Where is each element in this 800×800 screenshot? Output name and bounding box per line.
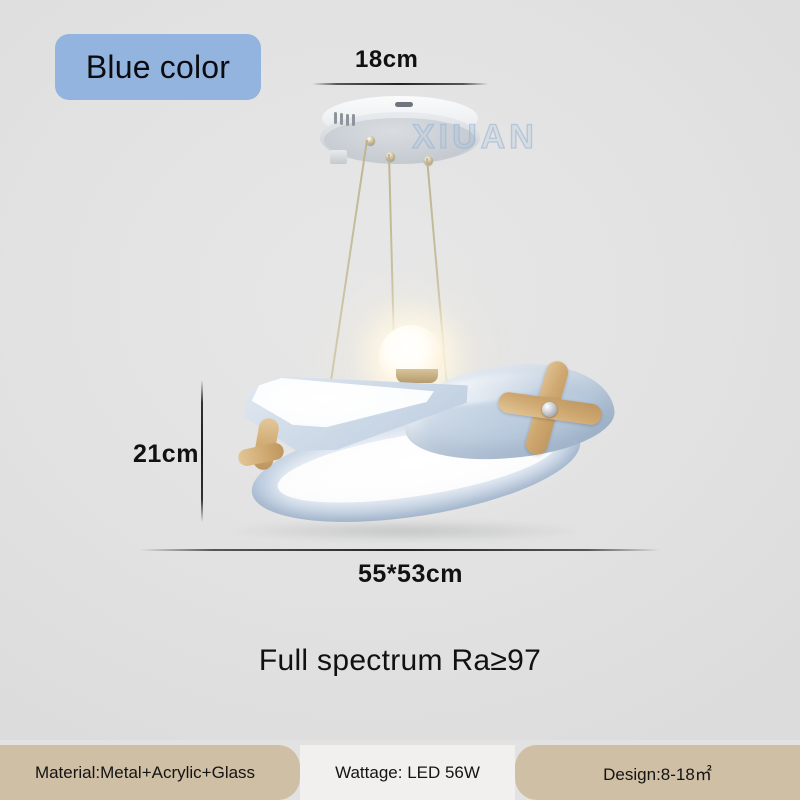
canopy-width-label: 18cm [355,46,418,74]
spec-wattage: Wattage: LED 56W [300,745,515,800]
spec-design-area: Design:8-18㎡ [515,745,800,800]
brand-watermark: XIUAN [412,118,538,157]
spec-material: Material:Metal+Acrylic+Glass [0,745,300,800]
full-spectrum-headline: Full spectrum Ra≥97 [0,644,800,678]
propeller-hub-screw [542,402,557,417]
canopy-vent [334,112,337,124]
wingspan-label: 55*53cm [358,560,463,589]
wooden-propeller [504,362,594,458]
lamp-drop-shadow [225,520,585,542]
spec-material-label: Material:Metal+Acrylic+Glass [35,763,265,783]
canopy-clip [330,150,347,164]
canopy-slot [395,102,413,107]
canopy-vent [340,113,343,125]
canopy-width-rule [312,83,488,85]
height-rule [201,380,203,522]
product-image: XIUAN Blue color 18cm 21cm 55*53cm Full … [0,0,800,800]
color-variant-label: Blue color [86,49,230,86]
spec-bar: Material:Metal+Acrylic+Glass Wattage: LE… [0,745,800,800]
canopy-vent [352,114,355,126]
canopy-vent [346,114,349,126]
airplane-lamp-body [232,360,592,535]
color-variant-badge: Blue color [55,34,261,100]
spec-design-label: Design:8-18㎡ [603,760,712,785]
height-label: 21cm [133,440,199,469]
spec-wattage-label: Wattage: LED 56W [335,763,480,783]
wingspan-rule [140,549,660,551]
pendant-lamp-illustration: XIUAN [0,0,800,740]
